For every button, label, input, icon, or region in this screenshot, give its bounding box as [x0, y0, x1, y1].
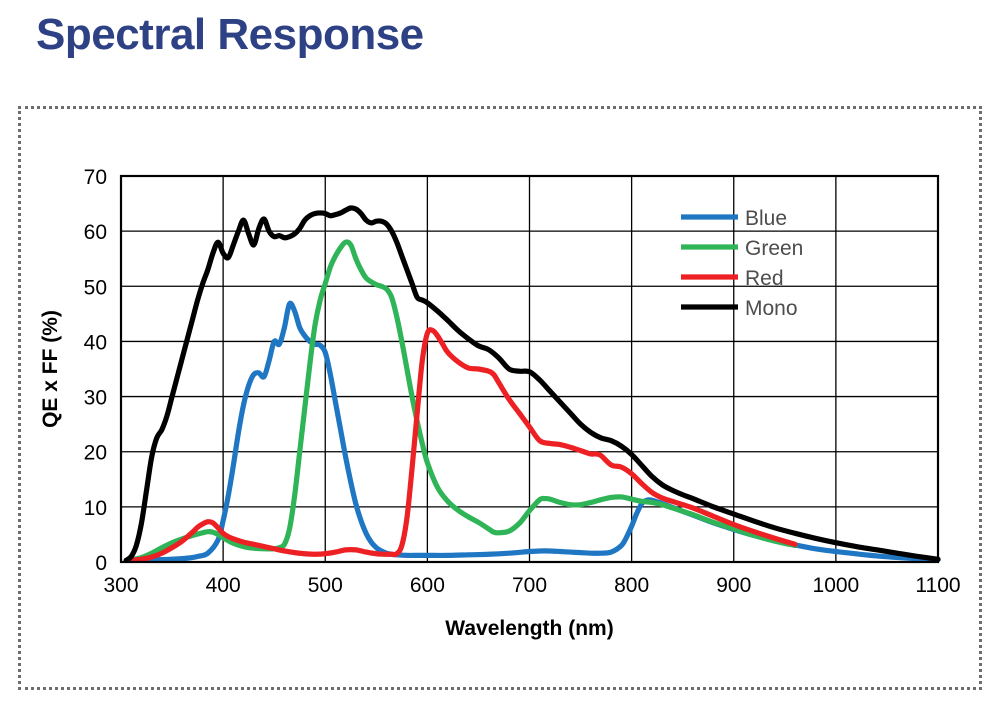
y-tick-70: 70: [84, 166, 107, 189]
y-axis-title: QE x FF (%): [39, 310, 62, 428]
x-tick-800: 800: [614, 574, 649, 597]
x-axis-title: Wavelength (nm): [445, 617, 613, 640]
x-tick-500: 500: [308, 574, 343, 597]
y-axis-tick-labels: 010203040506070: [84, 166, 107, 575]
legend-label-blue: Blue: [745, 207, 787, 230]
x-axis-tick-labels: 30040050060070080090010001100: [103, 574, 960, 597]
x-tick-400: 400: [206, 574, 241, 597]
chart-legend: BlueGreenRedMono: [681, 207, 803, 320]
y-tick-20: 20: [84, 442, 107, 465]
grid-layer: [121, 176, 938, 562]
y-tick-60: 60: [84, 221, 107, 244]
y-tick-50: 50: [84, 276, 107, 299]
x-tick-700: 700: [512, 574, 547, 597]
legend-label-red: Red: [745, 267, 784, 290]
series-line-red: [131, 330, 795, 561]
legend-label-green: Green: [745, 237, 803, 260]
x-tick-600: 600: [410, 574, 445, 597]
x-tick-1100: 1100: [915, 574, 960, 597]
x-tick-900: 900: [716, 574, 751, 597]
y-tick-30: 30: [84, 387, 107, 410]
x-tick-300: 300: [103, 574, 138, 597]
y-tick-10: 10: [84, 497, 107, 520]
legend-label-mono: Mono: [745, 297, 798, 320]
x-tick-1000: 1000: [813, 574, 860, 597]
chart-container: 30040050060070080090010001100 0102030405…: [18, 106, 982, 690]
series-line-green: [131, 242, 795, 560]
y-tick-0: 0: [95, 552, 107, 575]
page-title: Spectral Response: [36, 10, 424, 60]
spectral-response-chart: 30040050060070080090010001100 0102030405…: [21, 109, 985, 693]
y-tick-40: 40: [84, 331, 107, 354]
